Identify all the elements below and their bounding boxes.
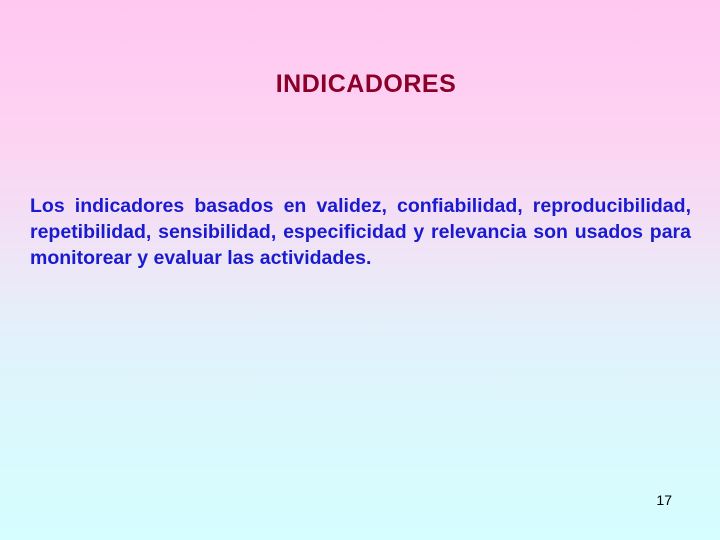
page-title: INDICADORES	[0, 70, 720, 99]
slide-canvas: INDICADORES Los indicadores basados en v…	[0, 0, 720, 540]
page-number: 17	[656, 492, 672, 508]
slide-body-text: Los indicadores basados en validez, conf…	[30, 193, 691, 271]
